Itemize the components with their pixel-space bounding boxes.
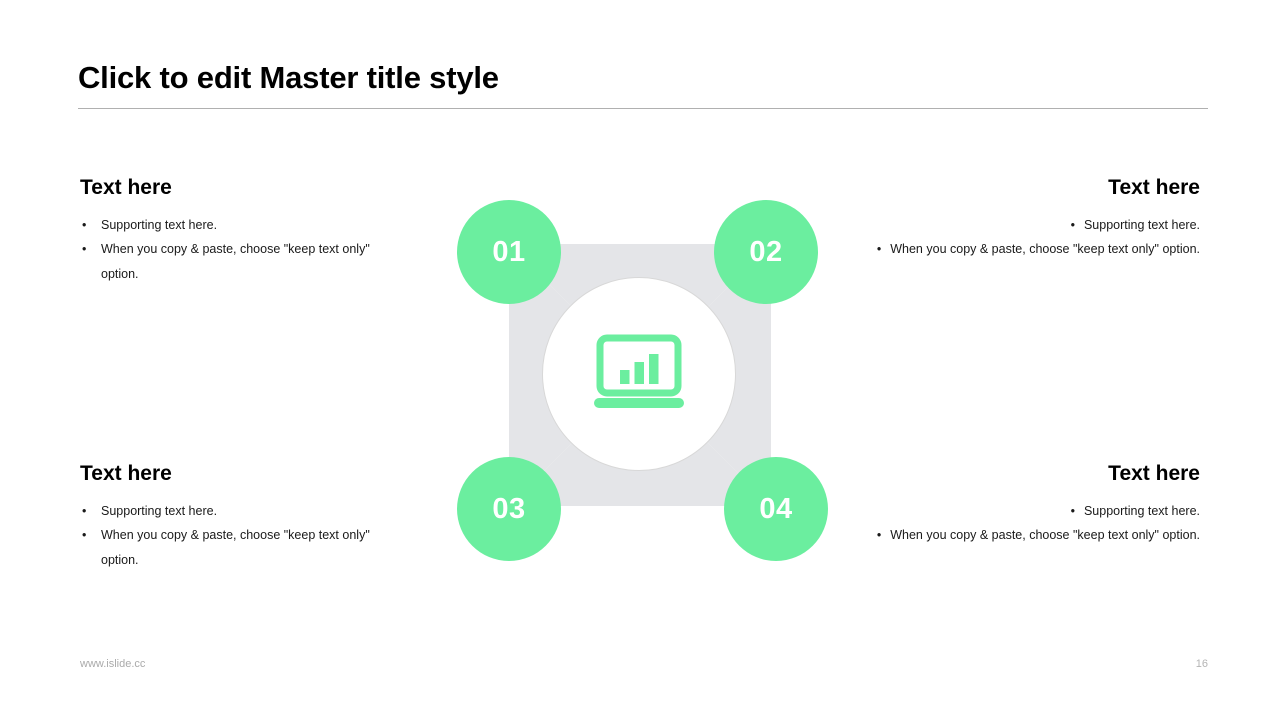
center-diagram: 01 02 03 04 <box>440 175 840 575</box>
bullet-glyph: • <box>82 237 86 261</box>
diagram-node-label: 04 <box>759 493 792 526</box>
diagram-node-01[interactable]: 01 <box>457 200 561 304</box>
bullet-glyph: • <box>1071 504 1075 518</box>
text-block-bottom-right: Text here •Supporting text here. •When y… <box>870 462 1200 548</box>
bullet-glyph: • <box>877 242 881 256</box>
text-block-heading: Text here <box>80 176 410 199</box>
bullet-glyph: • <box>82 499 86 523</box>
text-block-bullets: •Supporting text here. •When you copy & … <box>870 213 1200 262</box>
bullet-glyph: • <box>1071 218 1075 232</box>
title-divider <box>78 108 1208 109</box>
text-block-bullets: •Supporting text here. •When you copy & … <box>80 213 410 286</box>
bullet-glyph: • <box>82 523 86 547</box>
center-hub <box>542 277 736 471</box>
bullet-glyph: • <box>82 213 86 237</box>
text-block-heading: Text here <box>80 462 410 485</box>
diagram-node-02[interactable]: 02 <box>714 200 818 304</box>
diagram-node-04[interactable]: 04 <box>724 457 828 561</box>
list-item: •Supporting text here. <box>80 213 410 237</box>
diagram-node-label: 03 <box>492 493 525 526</box>
text-block-heading: Text here <box>870 462 1200 485</box>
list-item-text: Supporting text here. <box>101 504 217 518</box>
page-title: Click to edit Master title style <box>78 60 499 96</box>
list-item: •When you copy & paste, choose "keep tex… <box>80 523 410 572</box>
list-item: •When you copy & paste, choose "keep tex… <box>870 237 1200 261</box>
list-item-text: Supporting text here. <box>1084 218 1200 232</box>
footer-website: www.islide.cc <box>80 658 145 670</box>
diagram-node-label: 02 <box>749 236 782 269</box>
list-item-text: When you copy & paste, choose "keep text… <box>890 528 1200 542</box>
list-item-text: When you copy & paste, choose "keep text… <box>101 242 370 280</box>
text-block-top-left: Text here •Supporting text here. •When y… <box>80 176 410 286</box>
diagram-node-label: 01 <box>492 236 525 269</box>
list-item: •Supporting text here. <box>870 499 1200 523</box>
text-block-bullets: •Supporting text here. •When you copy & … <box>80 499 410 572</box>
list-item: •Supporting text here. <box>80 499 410 523</box>
text-block-heading: Text here <box>870 176 1200 199</box>
list-item-text: Supporting text here. <box>1084 504 1200 518</box>
list-item-text: Supporting text here. <box>101 218 217 232</box>
list-item: •When you copy & paste, choose "keep tex… <box>870 523 1200 547</box>
list-item: •Supporting text here. <box>870 213 1200 237</box>
laptop-bar-chart-icon <box>592 334 686 414</box>
list-item-text: When you copy & paste, choose "keep text… <box>101 528 370 566</box>
diagram-node-03[interactable]: 03 <box>457 457 561 561</box>
bullet-glyph: • <box>877 528 881 542</box>
list-item-text: When you copy & paste, choose "keep text… <box>890 242 1200 256</box>
text-block-bottom-left: Text here •Supporting text here. •When y… <box>80 462 410 572</box>
list-item: •When you copy & paste, choose "keep tex… <box>80 237 410 286</box>
slide-canvas: Click to edit Master title style Text he… <box>0 0 1280 720</box>
text-block-bullets: •Supporting text here. •When you copy & … <box>870 499 1200 548</box>
footer-page-number: 16 <box>1160 658 1208 670</box>
text-block-top-right: Text here •Supporting text here. •When y… <box>870 176 1200 262</box>
